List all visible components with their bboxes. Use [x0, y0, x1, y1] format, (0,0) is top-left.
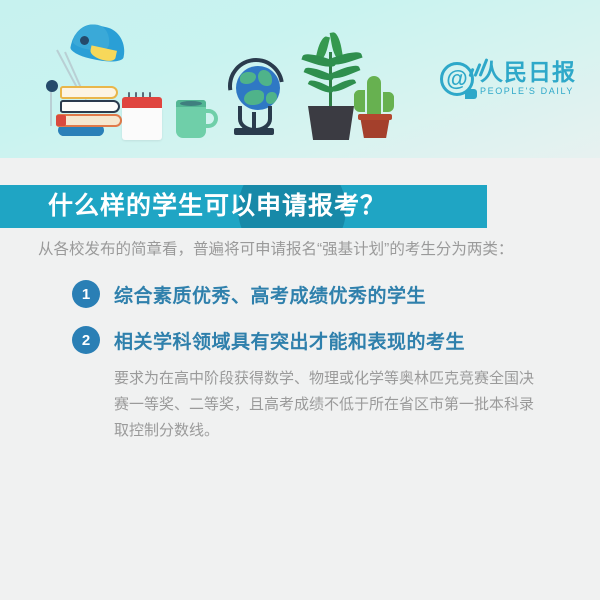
infographic-page: @ 人民日报 PEOPLE'S DAILY 什么样的学生可以申请报考？ 从各校发…	[0, 0, 600, 600]
cactus-arm-right-vertical	[383, 92, 394, 106]
lamp-joint-upper	[80, 36, 89, 45]
page-title: 什么样的学生可以申请报考？	[48, 185, 386, 228]
logo-english-name: PEOPLE'S DAILY	[480, 86, 574, 96]
at-symbol-icon: @	[440, 62, 474, 96]
lead-paragraph: 从各校发布的简章看，普遍将可申请报名“强基计划”的考生分为两类：	[38, 236, 534, 264]
content-area: 从各校发布的简章看，普遍将可申请报名“强基计划”的考生分为两类： 1 综合素质优…	[0, 236, 600, 444]
globe-base	[234, 128, 274, 135]
book-middle	[60, 100, 120, 113]
header-illustration-band: @ 人民日报 PEOPLE'S DAILY	[0, 0, 600, 158]
logo-chinese-name: 人民日报	[480, 58, 576, 86]
book-bookmark	[56, 115, 66, 126]
lamp-joint-lower	[46, 80, 58, 92]
book-stack-icon	[60, 86, 128, 132]
calendar-header	[122, 97, 162, 108]
plant-pot	[308, 106, 354, 140]
cactus-arm-left-vertical	[354, 90, 365, 104]
section-title-banner: 什么样的学生可以申请报考？	[0, 185, 487, 228]
book-top	[60, 86, 118, 99]
item-number-badge: 1	[72, 280, 100, 308]
list-item: 1 综合素质优秀、高考成绩优秀的学生	[72, 280, 600, 308]
item-number-badge: 2	[72, 326, 100, 354]
mug-opening	[180, 101, 202, 106]
item-label: 相关学科领域具有突出才能和表现的考生	[114, 327, 465, 354]
list-item: 2 相关学科领域具有突出才能和表现的考生	[72, 326, 600, 354]
item-label: 综合素质优秀、高考成绩优秀的学生	[114, 281, 426, 308]
item-detail-paragraph: 要求为在高中阶段获得数学、物理或化学等奥林匹克竞赛全国决赛一等奖、二等奖，且高考…	[114, 366, 534, 444]
calendar-page	[122, 108, 162, 140]
cactus-pot-rim	[358, 114, 392, 120]
peoples-daily-logo: @ 人民日报 PEOPLE'S DAILY	[440, 58, 560, 102]
coffee-mug-icon	[176, 100, 218, 140]
lamp-arm-lower	[50, 88, 52, 126]
desk-calendar-icon	[122, 92, 162, 140]
globe-icon	[222, 54, 284, 140]
potted-cactus-icon	[352, 76, 398, 138]
